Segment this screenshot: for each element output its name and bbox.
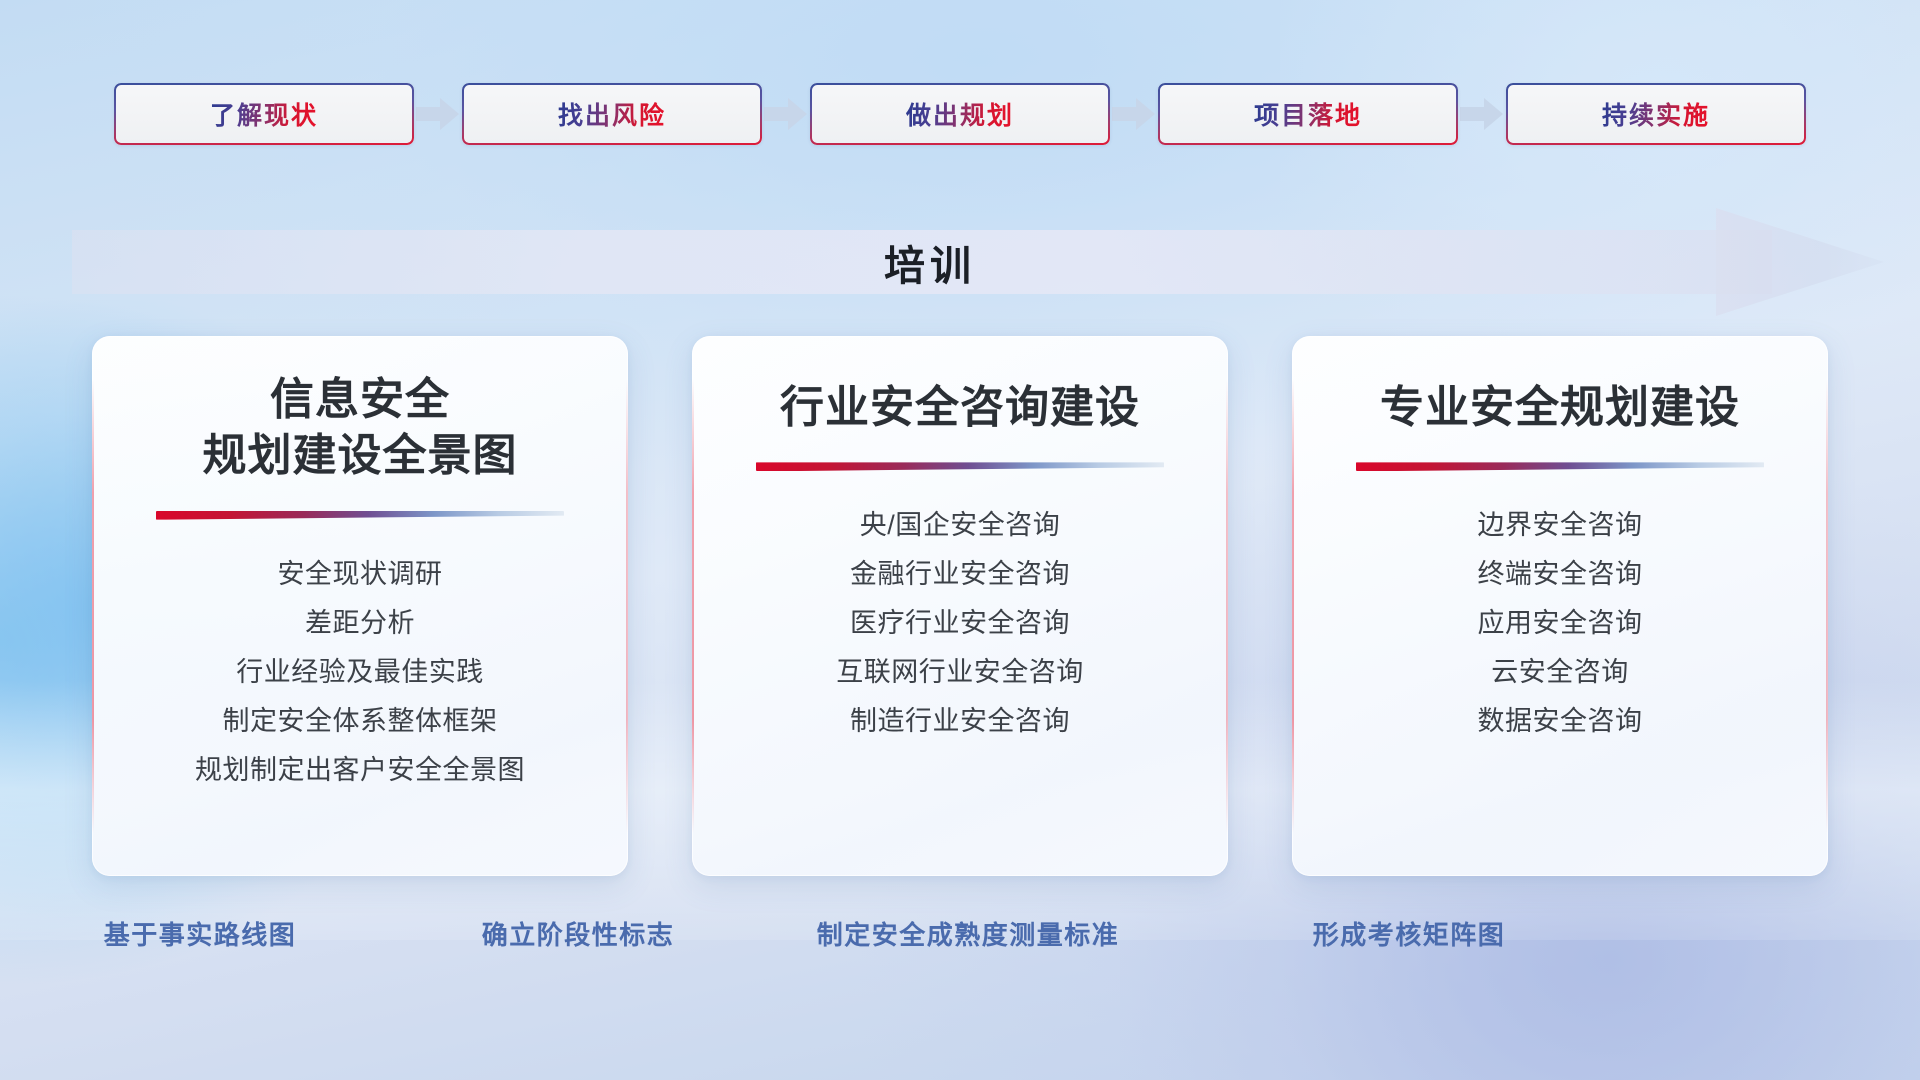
process-step-1-label: 了解现状	[210, 96, 318, 132]
process-step-1[interactable]: 了解现状	[114, 83, 414, 145]
training-band-title: 培训	[0, 208, 1920, 316]
list-item: 金融行业安全咨询	[692, 550, 1228, 599]
process-step-row: 了解现状 找出风险 做出规划 项目落地	[0, 80, 1920, 148]
arrow-right-icon	[1458, 83, 1506, 145]
card-title: 行业安全咨询建设	[756, 380, 1164, 436]
list-item: 制造行业安全咨询	[692, 697, 1228, 746]
card-item-list: 央/国企安全咨询 金融行业安全咨询 医疗行业安全咨询 互联网行业安全咨询 制造行…	[692, 501, 1228, 746]
card-title: 专业安全规划建设	[1356, 380, 1764, 436]
card-item-list: 边界安全咨询 终端安全咨询 应用安全咨询 云安全咨询 数据安全咨询	[1292, 501, 1828, 746]
process-step-3-label: 做出规划	[906, 96, 1014, 132]
list-item: 行业经验及最佳实践	[92, 648, 628, 697]
list-item: 互联网行业安全咨询	[692, 648, 1228, 697]
process-step-4[interactable]: 项目落地	[1158, 83, 1458, 145]
list-item: 安全现状调研	[92, 550, 628, 599]
card-title-line-1: 行业安全咨询建设	[780, 380, 1140, 436]
process-step-5[interactable]: 持续实施	[1506, 83, 1806, 145]
process-step-5-label: 持续实施	[1602, 96, 1710, 132]
list-item: 云安全咨询	[1292, 648, 1828, 697]
training-band-title-text: 培训	[884, 232, 976, 292]
list-item: 规划制定出客户安全全景图	[92, 746, 628, 795]
card-industry-consulting[interactable]: 行业安全咨询建设 央/国企安全咨询 金融行业安全咨询 医疗行业安全咨询 互联网行…	[692, 336, 1228, 876]
list-item: 应用安全咨询	[1292, 599, 1828, 648]
list-item: 终端安全咨询	[1292, 550, 1828, 599]
card-divider	[756, 462, 1164, 471]
list-item: 医疗行业安全咨询	[692, 599, 1228, 648]
process-step-2[interactable]: 找出风险	[462, 83, 762, 145]
arrow-right-icon	[762, 83, 810, 145]
process-step-4-label: 项目落地	[1254, 96, 1362, 132]
card-divider	[1356, 462, 1764, 471]
card-security-panorama[interactable]: 信息安全 规划建设全景图 安全现状调研 差距分析 行业经验及最佳实践 制定安全体…	[92, 336, 628, 876]
card-title: 信息安全 规划建设全景图	[179, 372, 542, 485]
card-title-line-1: 信息安全	[203, 372, 518, 428]
list-item: 制定安全体系整体框架	[92, 697, 628, 746]
process-step-2-label: 找出风险	[558, 96, 666, 132]
card-professional-planning[interactable]: 专业安全规划建设 边界安全咨询 终端安全咨询 应用安全咨询 云安全咨询 数据安全…	[1292, 336, 1828, 876]
arrow-right-icon	[1110, 83, 1158, 145]
list-item: 差距分析	[92, 599, 628, 648]
caption-milestone: 确立阶段性标志	[482, 915, 675, 952]
caption-maturity: 制定安全成熟度测量标准	[817, 915, 1120, 952]
card-item-list: 安全现状调研 差距分析 行业经验及最佳实践 制定安全体系整体框架 规划制定出客户…	[92, 550, 628, 795]
slide-canvas: 了解现状 找出风险 做出规划 项目落地	[0, 0, 1920, 1080]
training-band: 培训	[0, 208, 1920, 316]
arrow-right-icon	[414, 83, 462, 145]
list-item: 央/国企安全咨询	[692, 501, 1228, 550]
card-divider	[156, 511, 564, 520]
process-step-3[interactable]: 做出规划	[810, 83, 1110, 145]
card-row: 信息安全 规划建设全景图 安全现状调研 差距分析 行业经验及最佳实践 制定安全体…	[0, 336, 1920, 884]
list-item: 边界安全咨询	[1292, 501, 1828, 550]
card-title-line-1: 专业安全规划建设	[1380, 380, 1740, 436]
caption-row: 基于事实路线图 确立阶段性标志 制定安全成熟度测量标准 形成考核矩阵图	[0, 915, 1920, 959]
caption-roadmap: 基于事实路线图	[104, 915, 297, 952]
card-title-line-2: 规划建设全景图	[203, 428, 518, 484]
caption-matrix: 形成考核矩阵图	[1313, 915, 1506, 952]
list-item: 数据安全咨询	[1292, 697, 1828, 746]
